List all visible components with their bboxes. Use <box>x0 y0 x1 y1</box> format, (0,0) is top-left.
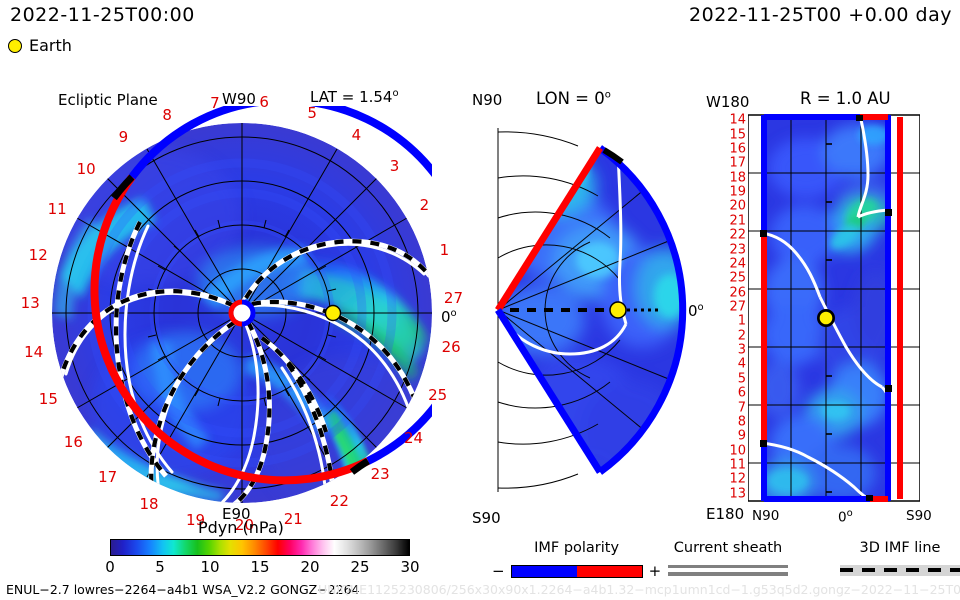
imf-3d-swatch <box>840 565 960 576</box>
radial-y-tick: 9 <box>738 429 746 444</box>
ecliptic-carrington-tick: 3 <box>390 157 400 175</box>
ecliptic-lat-deg: o <box>392 88 398 99</box>
radial-1au-panel <box>748 113 920 503</box>
ecliptic-lat-value: LAT = 1.54 <box>310 88 392 106</box>
ecliptic-carrington-tick: 18 <box>140 495 159 513</box>
ecliptic-carrington-tick: 22 <box>330 492 349 510</box>
ecliptic-carrington-tick: 12 <box>29 246 48 264</box>
radial-y-tick: 25 <box>729 271 746 286</box>
ecliptic-carrington-tick: 6 <box>259 93 269 111</box>
imf-plus-sign: + <box>649 562 662 580</box>
footer-model-id: ENUL−2.7 lowres−2264−a4b1 WSA_V2.2 GONGZ… <box>6 582 359 597</box>
colorbar-tick: 20 <box>300 558 319 576</box>
ecliptic-zero-deg: o <box>451 308 457 319</box>
radial-y-tick: 10 <box>729 443 746 458</box>
radial-y-tick: 23 <box>729 242 746 257</box>
imf-minus-sign: − <box>492 562 505 580</box>
radial-y-tick: 16 <box>729 141 746 156</box>
ecliptic-carrington-tick: 4 <box>352 126 362 144</box>
colorbar-tick: 0 <box>105 558 115 576</box>
ecliptic-carrington-tick: 7 <box>210 94 220 112</box>
meridional-field-layer <box>495 148 690 480</box>
ecliptic-lat-label: LAT = 1.54o <box>310 88 399 106</box>
footer-unique-id: UNIQUE1125230806/256x30x90x1.2264−a4b1.3… <box>318 582 960 597</box>
radial-y-tick: 11 <box>729 458 746 473</box>
radial-panel-title: R = 1.0 AU <box>800 89 891 108</box>
ecliptic-carrington-tick: 27 <box>444 289 463 307</box>
radial-y-tick: 20 <box>729 199 746 214</box>
ecliptic-carrington-tick: 11 <box>48 200 67 218</box>
radial-y-tick: 26 <box>729 285 746 300</box>
ecliptic-carrington-tick: 13 <box>21 294 40 312</box>
current-sheath-legend: Current sheath <box>668 540 788 576</box>
current-sheath-title: Current sheath <box>668 540 788 556</box>
meridional-label-n90: N90 <box>472 91 502 109</box>
imf-3d-title: 3D IMF line <box>840 540 960 556</box>
radial-1au-plot <box>748 113 920 503</box>
ecliptic-carrington-tick: 21 <box>284 510 303 528</box>
ecliptic-carrington-tick: 14 <box>24 343 43 361</box>
imf-polarity-bar <box>511 565 643 578</box>
colorbar-tick: 5 <box>155 558 165 576</box>
earth-legend-label: Earth <box>29 36 72 55</box>
current-sheath-swatch <box>668 565 788 576</box>
radial-y-tick: 21 <box>729 213 746 228</box>
ecliptic-carrington-tick: 8 <box>162 106 172 124</box>
ecliptic-carrington-tick: 24 <box>404 429 423 447</box>
colorbar: 051015202530 <box>110 539 410 578</box>
radial-xtick-n90: N90 <box>752 508 779 524</box>
earth-dot-icon <box>8 39 22 53</box>
imf-3d-legend: 3D IMF line <box>840 540 960 576</box>
sun-marker <box>231 302 253 324</box>
meridional-panel-title: LON = 0o <box>536 89 611 108</box>
meridional-label-s90: S90 <box>472 509 501 527</box>
colorbar-gradient <box>110 539 410 556</box>
ecliptic-carrington-tick: 2 <box>420 196 430 214</box>
radial-y-tick: 1 <box>738 314 746 329</box>
meridional-plane-plot <box>470 110 690 510</box>
meridional-title-value: LON = 0 <box>536 89 605 108</box>
radial-y-tick: 15 <box>729 127 746 142</box>
colorbar-tick: 15 <box>250 558 269 576</box>
radial-y-tick: 6 <box>738 386 746 401</box>
radial-y-tick: 8 <box>738 414 746 429</box>
radial-y-tick: 13 <box>729 486 746 501</box>
radial-y-tick: 19 <box>729 185 746 200</box>
earth-marker-radial <box>817 309 835 327</box>
radial-y-tick: 27 <box>729 300 746 315</box>
imf-polarity-legend: IMF polarity − + <box>492 540 661 580</box>
radial-y-tick: 2 <box>738 328 746 343</box>
radial-y-tick: 24 <box>729 256 746 271</box>
ecliptic-plane-panel <box>52 106 432 514</box>
imf-polarity-title: IMF polarity <box>492 540 661 556</box>
ecliptic-carrington-tick: 25 <box>428 386 447 404</box>
radial-y-tick: 14 <box>729 113 746 128</box>
earth-legend: Earth <box>8 36 72 55</box>
ecliptic-carrington-tick: 26 <box>442 338 461 356</box>
radial-label-e180: E180 <box>706 505 744 523</box>
ecliptic-carrington-tick: 1 <box>440 241 450 259</box>
colorbar-title: Pdyn (nPa) <box>198 518 284 537</box>
colorbar-tick: 25 <box>350 558 369 576</box>
ecliptic-zero-value: 0 <box>441 308 451 326</box>
radial-y-tick: 4 <box>738 357 746 372</box>
colorbar-tick: 10 <box>200 558 219 576</box>
enlil-visualization: 2022-11-25T00:00 2022-11-25T00 +0.00 day… <box>0 0 960 600</box>
earth-marker-meridional <box>610 302 626 318</box>
ecliptic-carrington-tick: 16 <box>64 433 83 451</box>
radial-xtick-s90: S90 <box>906 508 932 524</box>
ecliptic-carrington-tick: 23 <box>371 465 390 483</box>
radial-y-tick: 3 <box>738 343 746 358</box>
radial-y-tick: 18 <box>729 170 746 185</box>
meridional-plane-panel <box>470 110 690 510</box>
radial-y-tick: 5 <box>738 371 746 386</box>
ecliptic-carrington-tick: 9 <box>119 128 129 146</box>
ecliptic-carrington-tick: 17 <box>98 468 117 486</box>
earth-marker-ecliptic <box>326 306 341 321</box>
ecliptic-carrington-tick: 5 <box>307 104 317 122</box>
meridional-label-zero: 0o <box>688 302 704 320</box>
meridional-title-deg: o <box>605 90 611 101</box>
radial-y-tick: 17 <box>729 156 746 171</box>
ecliptic-carrington-tick: 15 <box>39 390 58 408</box>
radial-y-tick: 12 <box>729 472 746 487</box>
ecliptic-label-w90: W90 <box>222 90 256 108</box>
radial-label-w180: W180 <box>706 93 749 111</box>
ecliptic-label-zero: 0o <box>441 308 457 326</box>
radial-y-tick: 7 <box>738 400 746 415</box>
colorbar-ticks: 051015202530 <box>110 556 410 578</box>
radial-y-tick: 22 <box>729 228 746 243</box>
radial-xtick-zero: 0o <box>838 508 853 526</box>
ecliptic-plane-plot <box>52 106 432 514</box>
ecliptic-carrington-tick: 10 <box>77 160 96 178</box>
colorbar-tick: 30 <box>400 558 419 576</box>
header-datetime-left: 2022-11-25T00:00 <box>10 4 195 26</box>
meridional-zero-deg: o <box>698 302 704 313</box>
header-datetime-right: 2022-11-25T00 +0.00 day <box>689 4 952 26</box>
